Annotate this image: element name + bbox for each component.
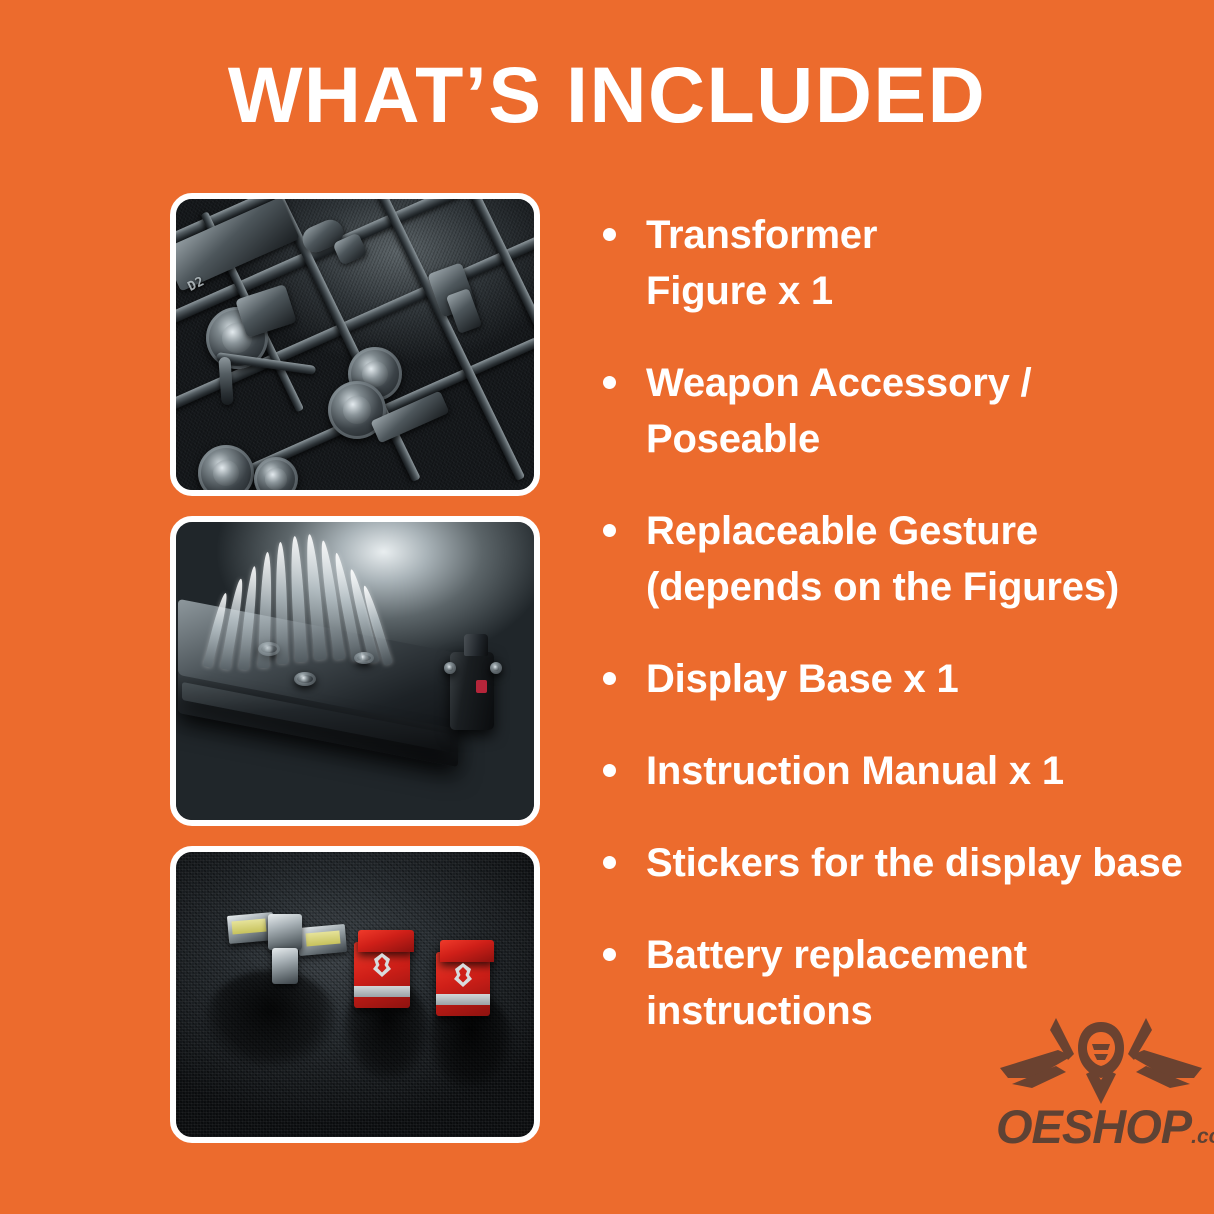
watermark-tld: .co.uk: [1191, 1125, 1214, 1148]
list-item-label: Stickers for the display base: [646, 835, 1196, 891]
weapon-core: [268, 914, 302, 950]
list-item-label: Display Base x 1: [646, 651, 1196, 707]
list-item: Replaceable Gesture (depends on the Figu…: [596, 503, 1196, 615]
panel-sprue: D2: [170, 193, 540, 496]
canister-knob: [444, 662, 456, 674]
list-item: Battery replacement instructions: [596, 927, 1196, 1039]
red-accessory-band: [436, 994, 490, 1005]
canister-badge: [476, 680, 487, 693]
autobot-logo-icon: [368, 952, 396, 978]
list-item: Stickers for the display base: [596, 835, 1196, 891]
included-list: Transformer Figure x 1 Weapon Accessory …: [596, 207, 1196, 1039]
part-shadow: [206, 970, 336, 1066]
watermark-text: OESHOP.co.uk: [996, 1102, 1206, 1154]
canister-cap: [464, 634, 488, 656]
list-item-label: Battery replacement instructions: [646, 927, 1196, 1039]
list-item: Display Base x 1: [596, 651, 1196, 707]
list-item-label: Replaceable Gesture (depends on the Figu…: [646, 503, 1196, 615]
display-base-peg: [294, 672, 316, 686]
bullet-dot-icon: [603, 672, 616, 685]
bullet-dot-icon: [603, 764, 616, 777]
watermark-brand: OESHOP: [996, 1100, 1191, 1153]
autobot-logo-icon: [449, 962, 477, 988]
bullet-dot-icon: [603, 228, 616, 241]
list-item-label: Instruction Manual x 1: [646, 743, 1196, 799]
list-item-label: Transformer Figure x 1: [646, 207, 1196, 319]
red-accessory-top: [358, 930, 414, 952]
canister-knob: [490, 662, 502, 674]
red-accessory-top: [440, 940, 494, 962]
weapon-stem: [272, 948, 298, 984]
panel-display-base-image: [176, 522, 534, 820]
list-item-label: Weapon Accessory / Poseable: [646, 355, 1196, 467]
canister-accessory: [450, 652, 494, 730]
list-item: Instruction Manual x 1: [596, 743, 1196, 799]
page-title: WHAT’S INCLUDED: [0, 52, 1214, 138]
panel-display-base: [170, 516, 540, 826]
bullet-dot-icon: [603, 856, 616, 869]
infographic-canvas: WHAT’S INCLUDED D2: [0, 0, 1214, 1214]
bullet-dot-icon: [603, 376, 616, 389]
panel-sprue-image: D2: [176, 199, 534, 490]
red-accessory-band: [354, 986, 410, 997]
panel-accessories: [170, 846, 540, 1143]
bullet-dot-icon: [603, 948, 616, 961]
list-item: Weapon Accessory / Poseable: [596, 355, 1196, 467]
bullet-dot-icon: [603, 524, 616, 537]
panel-accessories-image: [176, 852, 534, 1137]
list-item: Transformer Figure x 1: [596, 207, 1196, 319]
